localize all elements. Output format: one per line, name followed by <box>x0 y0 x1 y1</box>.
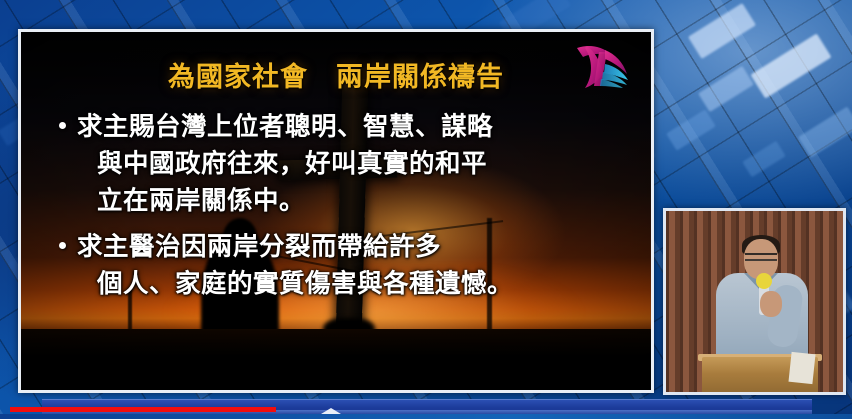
slide-bullet-list: 求主賜台灣上位者聰明、智慧、謀略 與中國政府往來，好叫真實的和平 立在兩岸關係中… <box>37 109 635 303</box>
broadcast-stage: 為國家社會 兩岸關係禱告 求主賜台灣上位者聰明、智慧、謀略 與中國政府往來，好叫… <box>0 0 852 419</box>
bullet-dot-icon <box>59 122 66 129</box>
presentation-slide: 為國家社會 兩岸關係禱告 求主賜台灣上位者聰明、智慧、謀略 與中國政府往來，好叫… <box>21 32 651 390</box>
bullet-2-line-1: 求主醫治因兩岸分裂而帶給許多 <box>77 229 635 266</box>
podium-paper <box>788 352 815 384</box>
bullet-dot-icon <box>59 242 66 249</box>
speaker-video <box>666 211 843 392</box>
bottom-strip <box>0 414 852 419</box>
red-accent-bar <box>10 407 276 412</box>
church-wing-logo-icon <box>571 38 633 94</box>
bullet-1-line-3: 立在兩岸關係中。 <box>77 183 635 220</box>
slide-bullet-1: 求主賜台灣上位者聰明、智慧、謀略 與中國政府往來，好叫真實的和平 立在兩岸關係中… <box>59 109 635 220</box>
slide-bullet-2: 求主醫治因兩岸分裂而帶給許多 個人、家庭的實質傷害與各種遺憾。 <box>59 229 635 303</box>
bullet-1-line-1: 求主賜台灣上位者聰明、智慧、謀略 <box>77 109 635 146</box>
presentation-slide-frame: 為國家社會 兩岸關係禱告 求主賜台灣上位者聰明、智慧、謀略 與中國政府往來，好叫… <box>18 29 654 393</box>
bullet-1-line-2: 與中國政府往來，好叫真實的和平 <box>77 146 635 183</box>
glasses-icon <box>745 253 777 261</box>
bullet-2-line-2: 個人、家庭的實質傷害與各種遺憾。 <box>77 266 635 303</box>
microphone-icon <box>756 273 772 289</box>
speaker-hand <box>760 291 782 317</box>
speaker-picture-in-picture[interactable] <box>663 208 846 395</box>
slide-content: 為國家社會 兩岸關係禱告 求主賜台灣上位者聰明、智慧、謀略 與中國政府往來，好叫… <box>21 32 651 390</box>
slide-title: 為國家社會 兩岸關係禱告 <box>37 62 635 93</box>
